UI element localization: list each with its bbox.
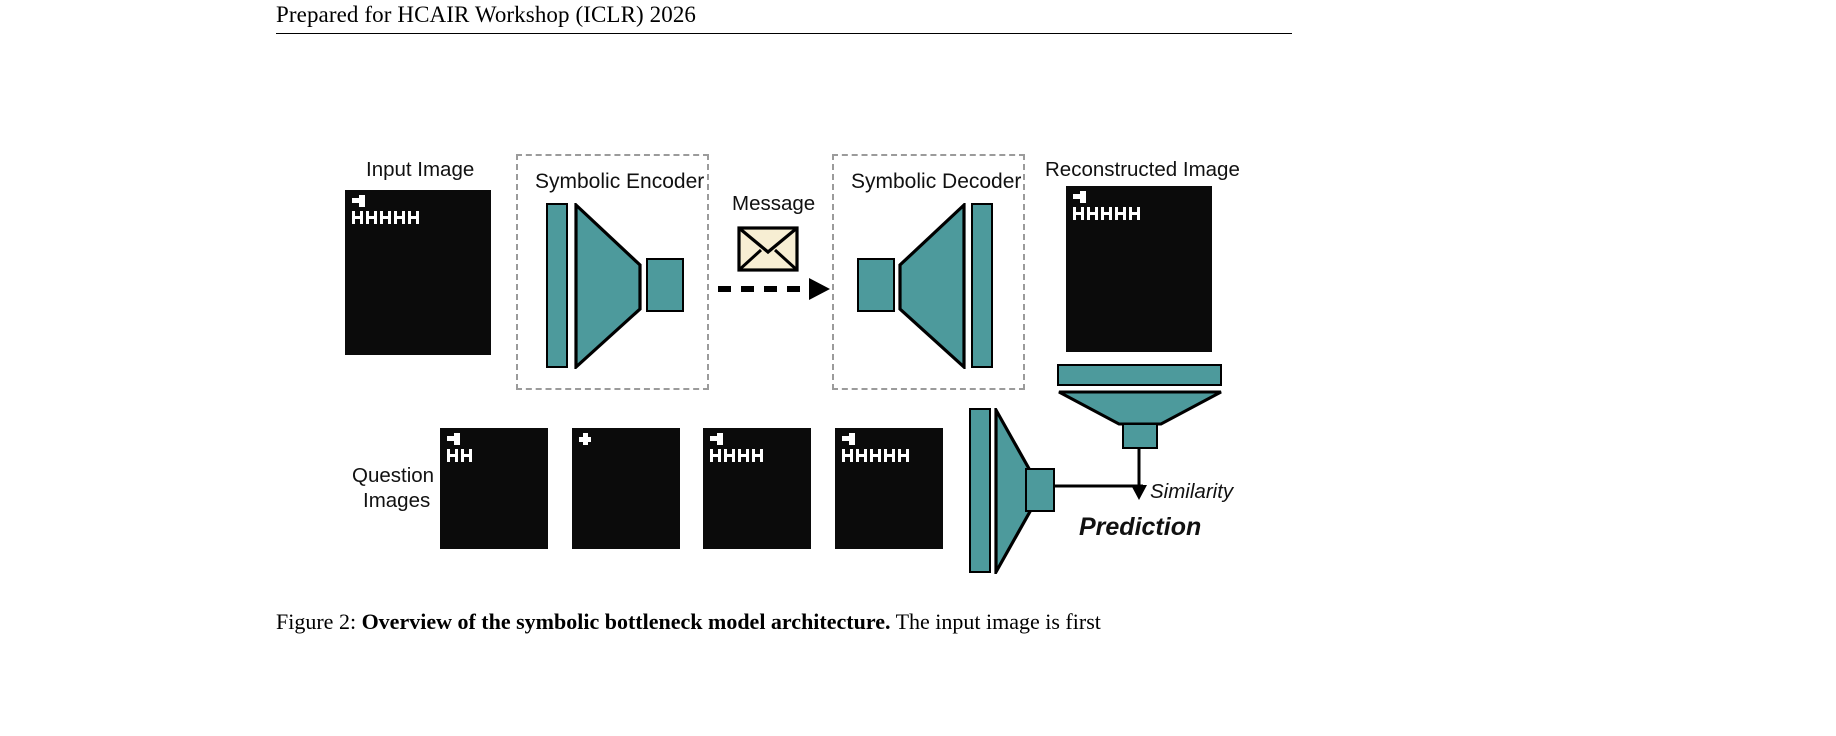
down-arrow-icon [1126,449,1152,501]
figure-caption-title: Overview of the symbolic bottleneck mode… [362,609,891,634]
recon-embedding-square [1122,423,1158,449]
symbolic-decoder-label: Symbolic Decoder [851,170,1021,194]
message-label: Message [732,192,815,216]
dashed-arrow-icon [716,272,832,306]
symbolic-encoder-label: Symbolic Encoder [535,170,704,194]
input-image-marker-glyph [352,195,365,207]
encoder-trapezoid [574,203,642,369]
question-embedding-square [1025,468,1055,512]
reconstructed-image-box [1066,186,1212,352]
figure-caption-number: Figure 2: [276,609,356,634]
question-encoder-bar [969,408,991,573]
figure-caption-body: The input image is first [896,609,1101,634]
encoder-bottleneck-square [646,258,684,312]
similarity-connector-line [1055,480,1145,492]
question-image-4 [835,428,943,549]
question-image-2-marker-glyph [579,433,591,445]
figure-caption: Figure 2: Overview of the symbolic bottl… [276,608,1292,637]
question-image-4-marker-glyph [842,433,855,445]
input-image-label: Input Image [366,158,474,182]
decoder-bottleneck-square [857,258,895,312]
reconstructed-image-label: Reconstructed Image [1045,158,1240,182]
reconstructed-image-marker-glyph [1073,191,1086,203]
question-image-1-marker-glyph [447,433,460,445]
question-images-label-line2: Images [363,489,430,513]
prediction-label: Prediction [1079,513,1201,542]
input-image-box [345,190,491,355]
question-image-2 [572,428,680,549]
question-image-3-h-row [710,449,763,462]
encoder-input-bar [546,203,568,368]
decoder-trapezoid [898,203,966,369]
question-image-1 [440,428,548,549]
recon-encoder-bar [1057,364,1222,386]
question-image-1-h-row [447,449,472,462]
question-image-3 [703,428,811,549]
question-images-label-line1: Question [352,464,434,488]
reconstructed-image-h-row [1073,207,1140,220]
similarity-label: Similarity [1150,480,1233,504]
recon-encoder-trapezoid [1057,390,1223,426]
decoder-output-bar [971,203,993,368]
question-image-4-h-row [842,449,909,462]
question-image-3-marker-glyph [710,433,723,445]
envelope-icon [737,226,799,272]
input-image-h-row [352,211,419,224]
